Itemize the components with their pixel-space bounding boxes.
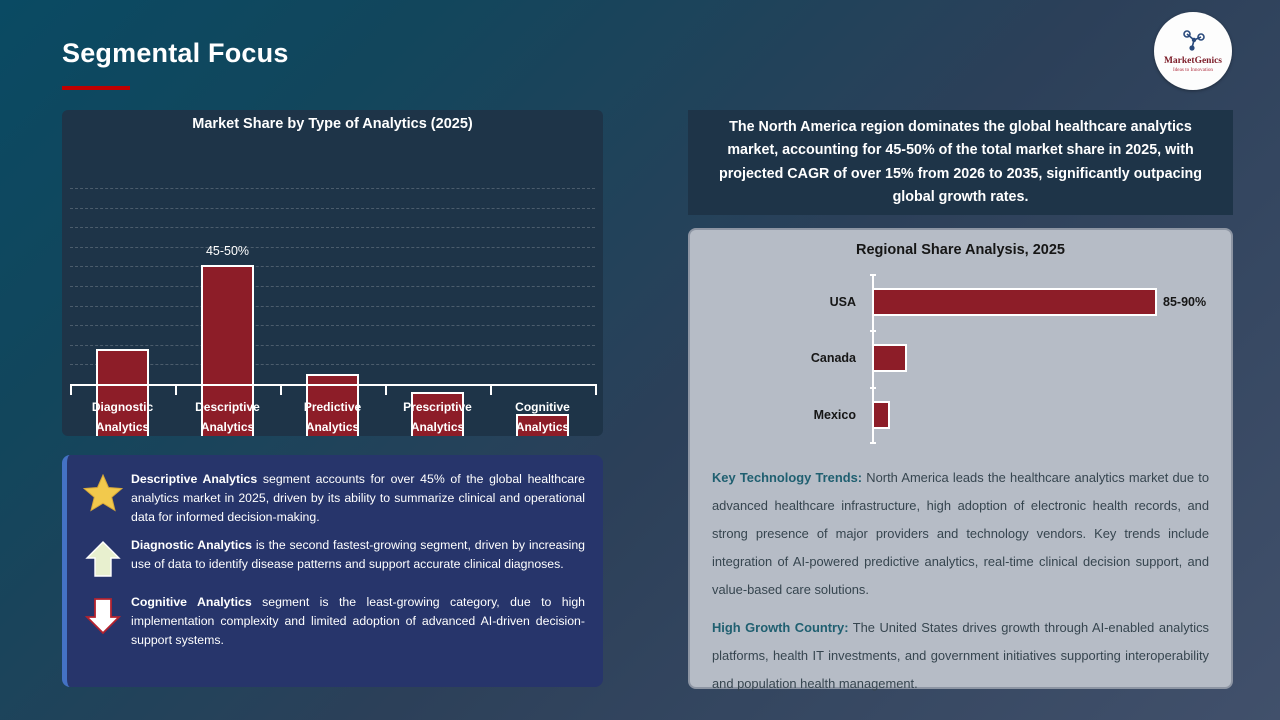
hbar-category-label: Mexico — [702, 408, 866, 422]
page-title: Segmental Focus — [62, 38, 289, 69]
chart-x-ticks — [70, 384, 595, 396]
hbar-row[interactable]: Mexico — [702, 387, 1219, 444]
regional-body-text: Key Technology Trends: North America lea… — [702, 464, 1219, 698]
insight-lead: Descriptive Analytics — [131, 472, 257, 486]
hbar-category-label: Canada — [702, 351, 866, 365]
paragraph-lead: High Growth Country: — [712, 620, 848, 635]
insight-text: Descriptive Analytics segment accounts f… — [131, 469, 589, 526]
logo-name: MarketGenics — [1164, 57, 1222, 67]
paragraph: High Growth Country: The United States d… — [712, 614, 1209, 698]
paragraph-body: North America leads the healthcare analy… — [712, 470, 1209, 597]
insight-item: Cognitive Analytics segment is the least… — [75, 592, 589, 649]
insight-lead: Cognitive Analytics — [131, 595, 252, 609]
axis-tick — [70, 384, 175, 396]
hbar[interactable] — [872, 288, 1157, 316]
hbar-track — [866, 344, 1219, 372]
hbar-row[interactable]: USA 85-90% — [702, 274, 1219, 331]
category-label: Prescriptive Analytics — [385, 398, 490, 438]
axis-tick — [280, 384, 385, 396]
brand-logo: MarketGenics Ideas to Innovation — [1154, 12, 1232, 90]
insight-text: Diagnostic Analytics is the second faste… — [131, 535, 589, 574]
insight-item: Descriptive Analytics segment accounts f… — [75, 469, 589, 526]
insight-lead: Diagnostic Analytics — [131, 538, 252, 552]
gridline — [70, 208, 595, 209]
title-accent-underline — [62, 86, 130, 90]
insight-text: Cognitive Analytics segment is the least… — [131, 592, 589, 649]
category-label: Predictive Analytics — [280, 398, 385, 438]
insight-item: Diagnostic Analytics is the second faste… — [75, 535, 589, 583]
arrow-up-icon — [75, 535, 131, 583]
axis-tick — [175, 384, 280, 396]
callout-banner: The North America region dominates the g… — [688, 110, 1233, 215]
axis-tick — [490, 384, 595, 396]
hbar-track: 85-90% — [866, 288, 1219, 316]
category-label: Diagnostic Analytics — [70, 398, 175, 438]
hbar[interactable] — [872, 344, 907, 372]
insights-panel: Descriptive Analytics segment accounts f… — [62, 455, 603, 687]
category-label: Cognitive Analytics — [490, 398, 595, 438]
hbar[interactable] — [872, 401, 890, 429]
arrow-down-icon — [75, 592, 131, 640]
gridline — [70, 227, 595, 228]
regional-share-card: Regional Share Analysis, 2025 USA 85-90%… — [688, 228, 1233, 689]
regional-chart-title: Regional Share Analysis, 2025 — [702, 240, 1219, 258]
hbar-category-label: USA — [702, 295, 866, 309]
logo-tagline: Ideas to Innovation — [1173, 68, 1213, 73]
star-icon — [75, 469, 131, 517]
hbar-row[interactable]: Canada — [702, 330, 1219, 387]
axis-tick — [385, 384, 490, 396]
chart-category-labels: Diagnostic Analytics Descriptive Analyti… — [70, 398, 595, 438]
chart-title: Market Share by Type of Analytics (2025) — [62, 110, 603, 132]
paragraph: Key Technology Trends: North America lea… — [712, 464, 1209, 604]
network-nodes-icon — [1180, 29, 1206, 56]
paragraph-lead: Key Technology Trends: — [712, 470, 862, 485]
bar-data-label: 45-50% — [206, 244, 249, 258]
regional-plot-area: USA 85-90% Canada Mexico — [702, 274, 1219, 444]
category-label: Descriptive Analytics — [175, 398, 280, 438]
market-share-chart-card: Market Share by Type of Analytics (2025)… — [62, 110, 603, 436]
hbar-track — [866, 401, 1219, 429]
gridline — [70, 188, 595, 189]
callout-text: The North America region dominates the g… — [702, 116, 1219, 209]
hbar-data-label: 85-90% — [1163, 295, 1206, 309]
